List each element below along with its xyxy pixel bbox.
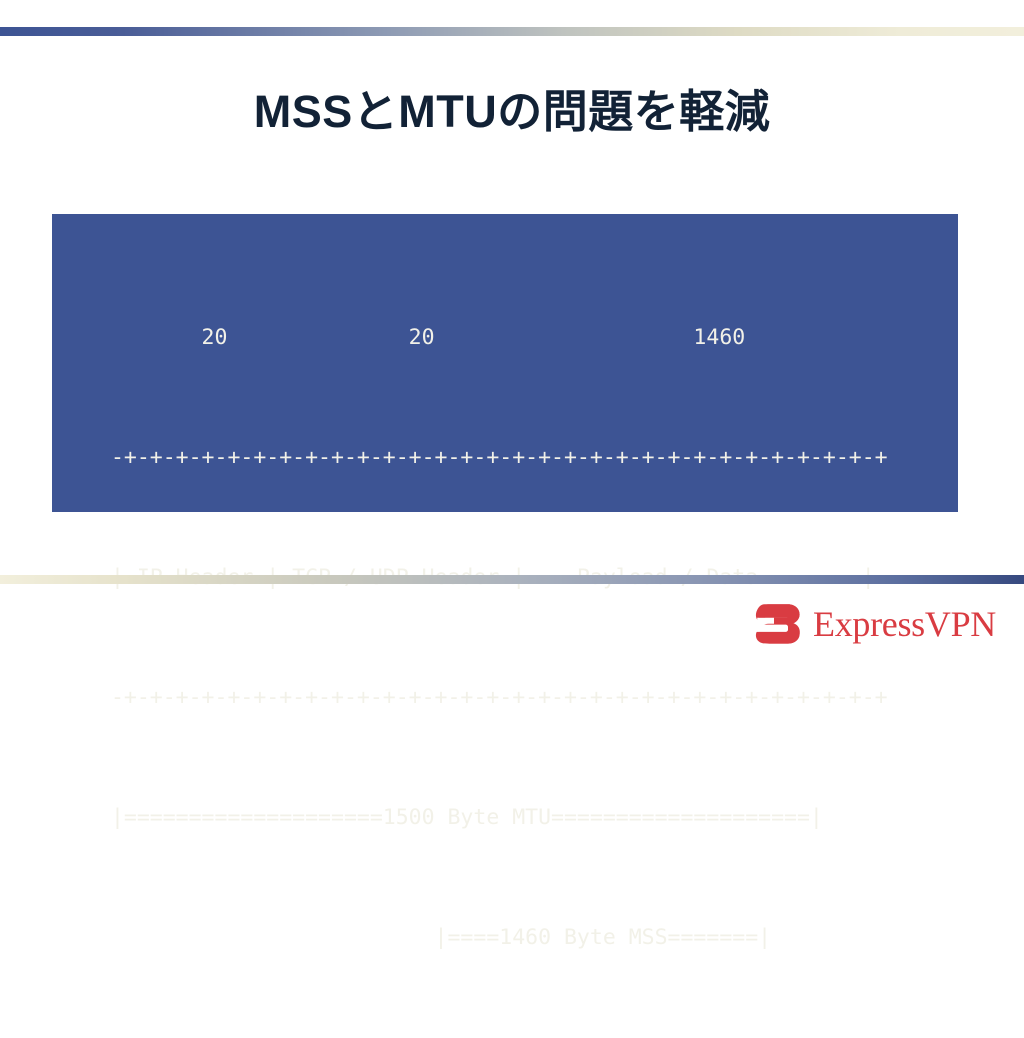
- ascii-line-separator-top: -+-+-+-+-+-+-+-+-+-+-+-+-+-+-+-+-+-+-+-+…: [98, 438, 888, 478]
- ascii-line-byte-counts: 20 20 1460: [98, 318, 888, 358]
- bottom-gradient-rule: [0, 575, 1024, 584]
- expressvpn-e-mark: [755, 603, 801, 645]
- expressvpn-wordmark: ExpressVPN: [813, 606, 996, 642]
- ascii-diagram-panel: 20 20 1460 -+-+-+-+-+-+-+-+-+-+-+-+-+-+-…: [52, 214, 958, 512]
- expressvpn-logo: ExpressVPN: [755, 598, 965, 650]
- top-gradient-rule: [0, 27, 1024, 36]
- ascii-line-mss-span: |====1460 Byte MSS=======|: [98, 918, 888, 958]
- ascii-line-mtu-span: |====================1500 Byte MTU======…: [98, 798, 888, 838]
- slide-root: { "slide": { "title": "MSSとMTUの問題を軽減", "…: [0, 0, 1024, 669]
- ascii-line-separator-bottom: -+-+-+-+-+-+-+-+-+-+-+-+-+-+-+-+-+-+-+-+…: [98, 678, 888, 718]
- page-title: MSSとMTUの問題を軽減: [0, 86, 1024, 138]
